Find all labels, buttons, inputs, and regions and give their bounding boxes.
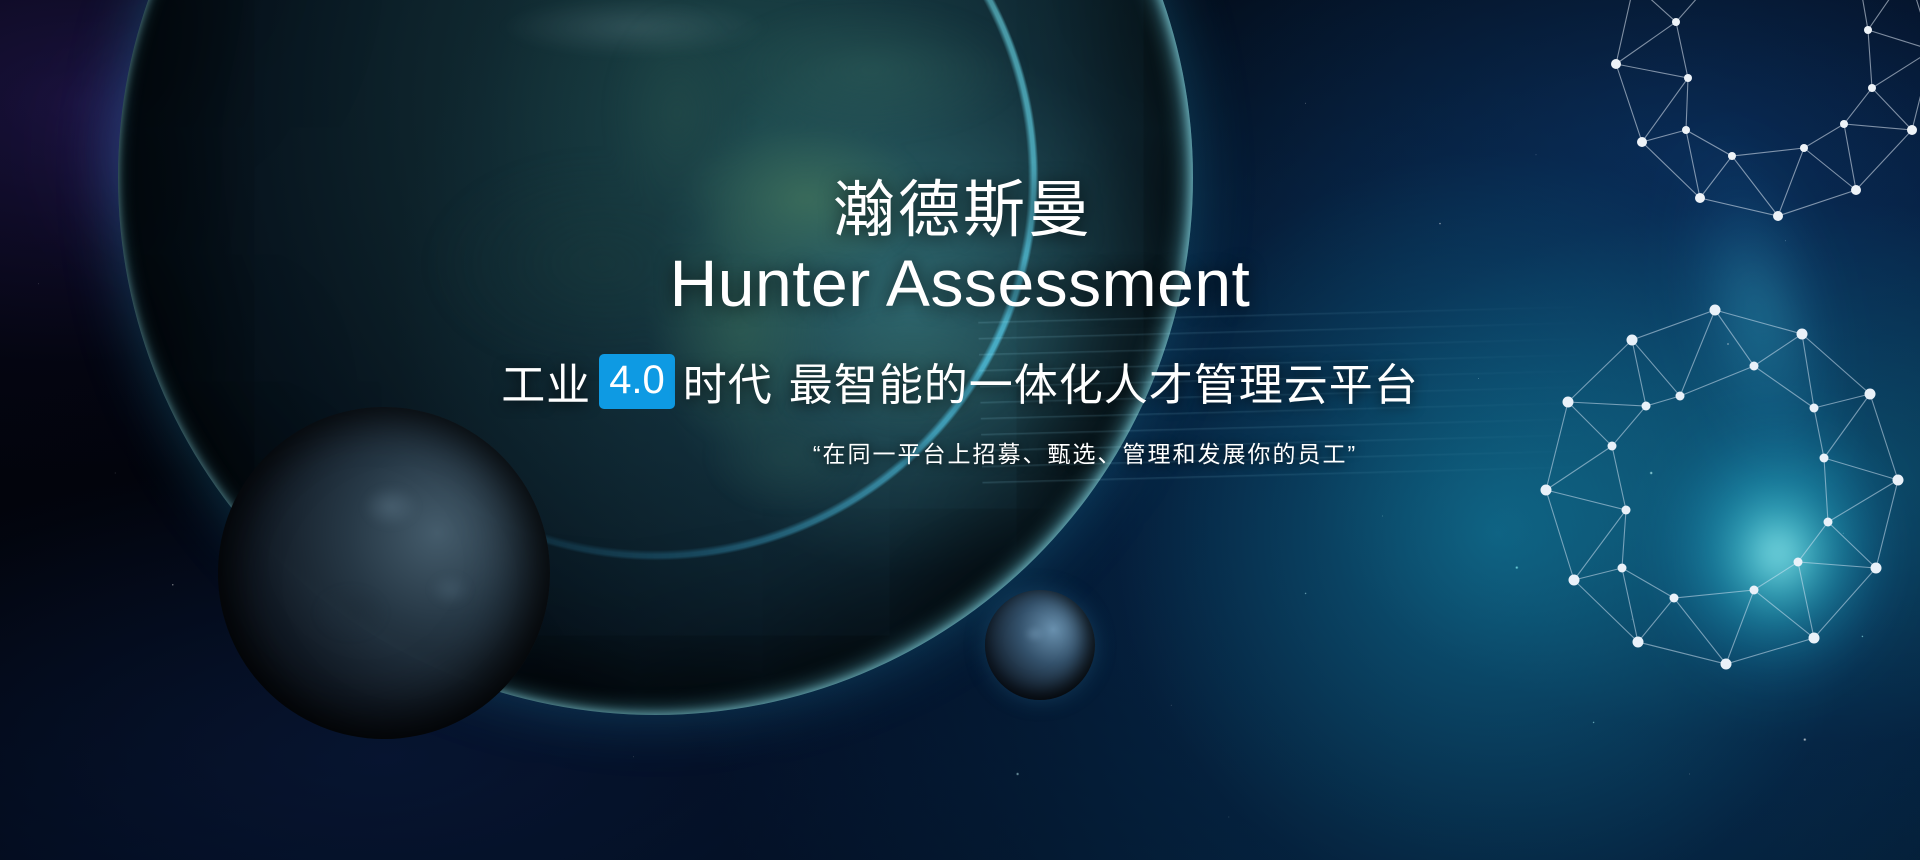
moon-small bbox=[985, 590, 1095, 700]
tagline-prefix: 工业 bbox=[501, 349, 591, 413]
hero-content: 瀚德斯曼 Hunter Assessment 工业 4.0 时代 最智能的一体化… bbox=[0, 176, 1920, 469]
hero-subtitle: “在同一平台上招募、甄选、管理和发展你的员工” bbox=[0, 435, 1920, 469]
tagline-mid: 时代 bbox=[683, 349, 773, 413]
hero-banner: 瀚德斯曼 Hunter Assessment 工业 4.0 时代 最智能的一体化… bbox=[0, 0, 1920, 860]
tagline: 工业 4.0 时代 最智能的一体化人才管理云平台 bbox=[0, 349, 1920, 413]
tagline-suffix: 最智能的一体化人才管理云平台 bbox=[789, 349, 1419, 413]
industry-version-badge: 4.0 bbox=[599, 354, 675, 409]
brand-title-cn: 瀚德斯曼 bbox=[0, 176, 1920, 245]
brand-title-en: Hunter Assessment bbox=[0, 247, 1920, 321]
